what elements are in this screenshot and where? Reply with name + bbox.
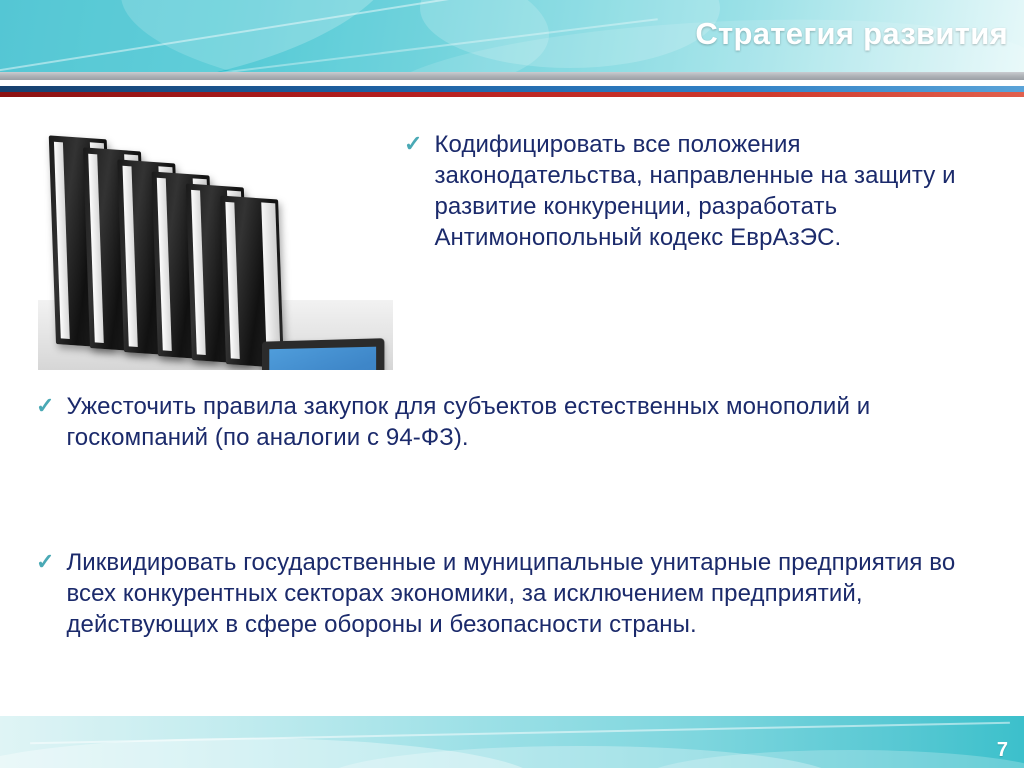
header-rule-red xyxy=(0,92,1024,97)
binder-spine xyxy=(191,190,206,355)
binder-spine xyxy=(157,178,172,351)
slide-header: Стратегия развития xyxy=(0,0,1024,72)
binders-and-laptop-photo xyxy=(38,118,393,370)
footer-line xyxy=(30,722,1010,745)
slide: Стратегия развития xyxy=(0,0,1024,768)
binder-spine xyxy=(54,142,70,339)
slide-title: Стратегия развития xyxy=(695,16,1008,52)
check-icon: ✓ xyxy=(36,392,54,420)
binder-spine xyxy=(225,202,239,359)
slide-footer: 7 xyxy=(0,716,1024,768)
check-icon: ✓ xyxy=(404,130,422,158)
laptop-screen xyxy=(269,347,376,370)
check-icon: ✓ xyxy=(36,548,54,576)
bullet-item-2: ✓ Ужесточить правила закупок для субъект… xyxy=(36,392,988,454)
laptop-lid xyxy=(262,338,384,370)
bullet-text-3: Ликвидировать государственные и муниципа… xyxy=(66,548,988,641)
page-number: 7 xyxy=(997,739,1008,762)
bullet-item-1: ✓ Кодифицировать все положения законодат… xyxy=(404,130,1004,254)
header-rule-gray xyxy=(0,72,1024,80)
bullet-text-1: Кодифицировать все положения законодател… xyxy=(434,130,1004,254)
bullet-text-2: Ужесточить правила закупок для субъектов… xyxy=(66,392,988,454)
binder-spine xyxy=(123,166,138,347)
bullet-item-3: ✓ Ликвидировать государственные и муници… xyxy=(36,548,988,641)
binder-spine xyxy=(88,154,104,343)
laptop xyxy=(234,340,393,370)
